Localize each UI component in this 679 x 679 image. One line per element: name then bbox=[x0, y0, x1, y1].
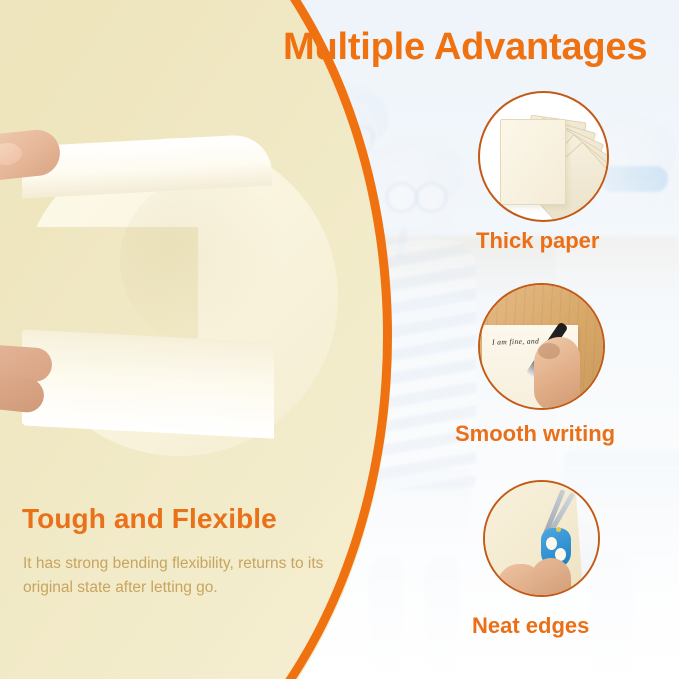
feature-thick-paper-image bbox=[478, 91, 609, 222]
left-headline: Tough and Flexible bbox=[22, 503, 277, 535]
background-child-a-glasses-right bbox=[415, 182, 448, 213]
feature-neat-edges-image bbox=[483, 480, 600, 597]
left-body-copy: It has strong bending flexibility, retur… bbox=[23, 552, 353, 600]
background-child-a-leg-left bbox=[368, 556, 404, 676]
handwriting-sample: I am fine, and bbox=[492, 336, 539, 346]
hero-bent-paper bbox=[0, 130, 360, 460]
feature-thick-paper-label: Thick paper bbox=[476, 228, 599, 254]
background-child-c-sunglasses bbox=[600, 166, 668, 192]
paper-front-sheet bbox=[500, 119, 566, 205]
writing-hand-knuckle bbox=[538, 343, 560, 359]
scissors-finger-hole-upper bbox=[546, 537, 557, 550]
feature-smooth-writing-label: Smooth writing bbox=[455, 421, 615, 447]
feature-smooth-writing-image: I am fine, and bbox=[478, 283, 605, 410]
feature-neat-edges-label: Neat edges bbox=[472, 613, 589, 639]
product-infographic: Multiple Advantages Tough and Flexible I… bbox=[0, 0, 679, 679]
scissors-pivot-pin bbox=[556, 527, 561, 532]
child-hand-right bbox=[531, 558, 571, 597]
background-child-a-glasses-left bbox=[385, 182, 418, 213]
bent-sheet-bottom-flap bbox=[22, 329, 274, 438]
thumb-nail bbox=[0, 142, 23, 167]
background-child-a-leg-right bbox=[424, 556, 460, 676]
bent-sheet-shadow bbox=[120, 176, 290, 346]
page-title: Multiple Advantages bbox=[283, 26, 647, 69]
